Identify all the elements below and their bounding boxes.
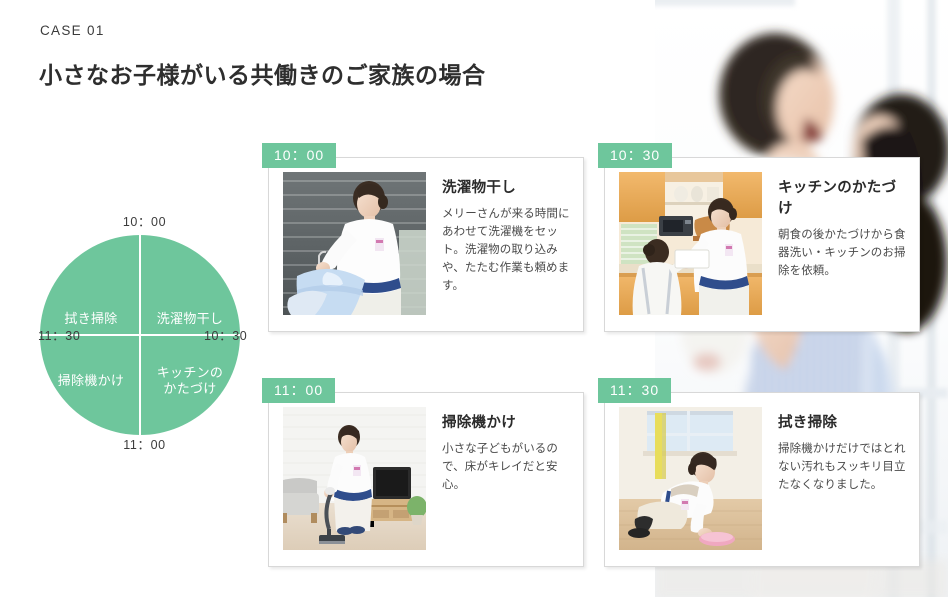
card-body: 小さな子どもがいるので、床がキレイだと安心。 [442,440,571,494]
card-title: 掃除機かけ [442,411,571,432]
card-title: 拭き掃除 [778,411,907,432]
case-label: CASE 01 [40,23,105,38]
card-title: 洗濯物干し [442,176,571,197]
schedule-card-kitchen[interactable]: キッチンのかたづけ 朝食の後かたづけから食器洗い・キッチンのお掃除を依頼。 [604,157,920,332]
page-title: 小さなお子様がいる共働きのご家族の場合 [39,56,486,90]
kitchen-tidying-photo [619,172,762,315]
chart-time-label-top: 10：00 [32,211,257,230]
vacuuming-photo [283,407,426,550]
card-thumbnail-laundry [283,172,426,315]
time-badge-1130: 11：30 [598,378,671,403]
card-thumbnail-wipe-cleaning [619,407,762,550]
schedule-pie-chart: 10：00 拭き掃除 洗濯物干し 掃除機かけ キッチンの かたづけ 11：30 … [32,205,257,455]
schedule-card-laundry[interactable]: 洗濯物干し メリーさんが来る時間にあわせて洗濯機をセット。洗濯物の取り込みや、た… [268,157,584,332]
pie-slice-label-vacuuming: 掃除機かけ [46,373,136,389]
card-body: メリーさんが来る時間にあわせて洗濯機をセット。洗濯物の取り込みや、たたむ作業も頼… [442,205,571,295]
card-body: 朝食の後かたづけから食器洗い・キッチンのお掃除を依頼。 [778,226,907,280]
card-body: 掃除機かけだけではとれない汚れもスッキリ目立たなくなりました。 [778,440,907,494]
wipe-cleaning-photo [619,407,762,550]
card-thumbnail-kitchen [619,172,762,315]
pie-slice-label-kitchen: キッチンの かたづけ [144,365,236,397]
laundry-hanging-photo [283,172,426,315]
chart-time-label-right: 10：30 [204,325,247,344]
card-title: キッチンのかたづけ [778,176,907,218]
pie-slice-label-kitchen-line1: キッチンの [157,365,224,380]
schedule-card-wipe-cleaning[interactable]: 拭き掃除 掃除機かけだけではとれない汚れもスッキリ目立たなくなりました。 [604,392,920,567]
schedule-card-vacuuming[interactable]: 掃除機かけ 小さな子どもがいるので、床がキレイだと安心。 [268,392,584,567]
pie-slice-label-kitchen-line2: かたづけ [163,381,216,396]
chart-time-label-bottom: 11：00 [32,434,257,453]
card-thumbnail-vacuuming [283,407,426,550]
page-root: CASE 01 小さなお子様がいる共働きのご家族の場合 10：00 拭き掃除 洗… [0,0,948,597]
chart-time-label-left: 11：30 [38,325,80,344]
time-badge-1100: 11：00 [262,378,335,403]
time-badge-1030: 10：30 [598,143,672,168]
time-badge-1000: 10：00 [262,143,336,168]
